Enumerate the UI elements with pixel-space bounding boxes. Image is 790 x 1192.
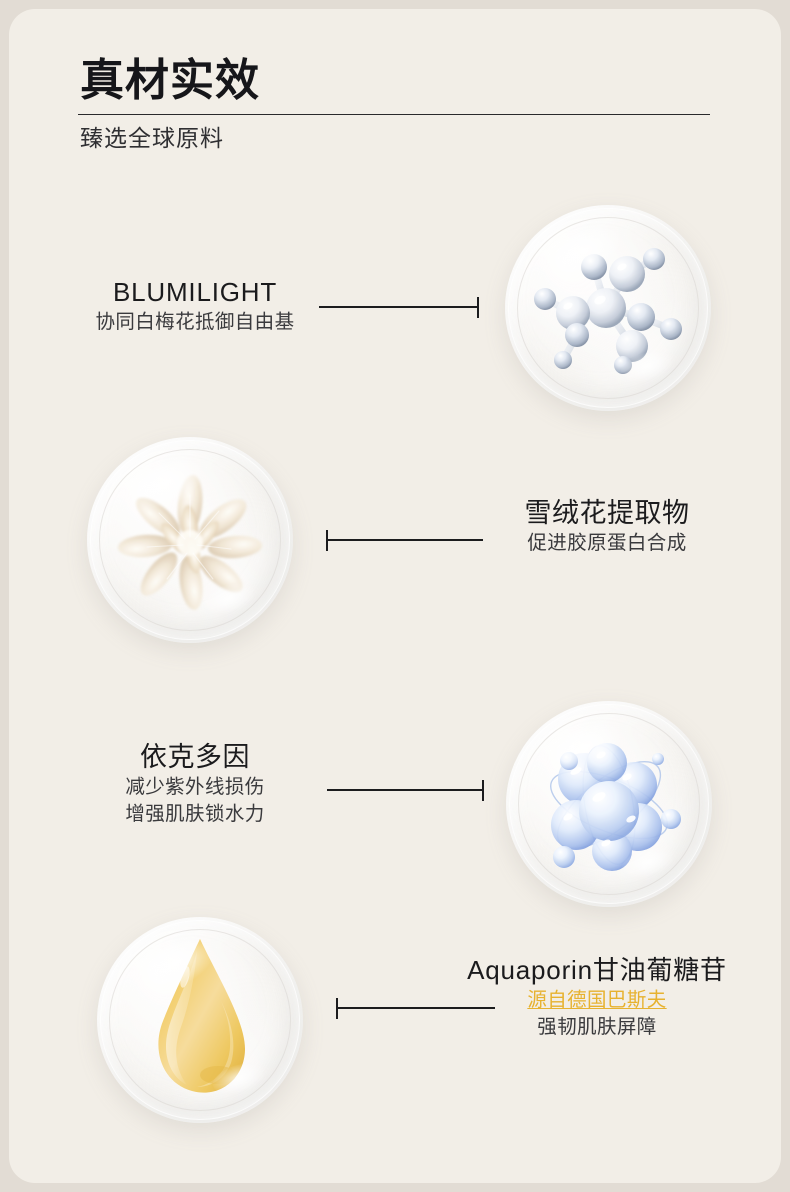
header: 真材实效 臻选全球原料 xyxy=(78,57,718,152)
connector-horizontal xyxy=(319,306,477,308)
ingredient-desc-line: 增强肌肤锁水力 xyxy=(45,801,345,828)
page-subtitle: 臻选全球原料 xyxy=(78,125,718,153)
ingredient-desc-line: 促进胶原蛋白合成 xyxy=(457,530,757,557)
connector-end-cap xyxy=(482,780,484,801)
ingredient-name: 依克多因 xyxy=(45,741,345,774)
ingredient-text-blumilight: BLUMILIGHT 协同白梅花抵御自由基 xyxy=(45,277,345,336)
ingredient-desc-line: 协同白梅花抵御自由基 xyxy=(45,309,345,336)
ingredient-name: Aquaporin甘油葡糖苷 xyxy=(437,955,757,987)
ingredient-name: 雪绒花提取物 xyxy=(457,497,757,530)
connector-end-cap xyxy=(477,297,479,318)
blue-spheres-bubble-icon xyxy=(506,701,712,907)
ingredient-text-aquaporin: Aquaporin甘油葡糖苷 源自德国巴斯夫 强韧肌肤屏障 xyxy=(437,955,757,1041)
molecule-bubble-icon xyxy=(505,205,711,411)
content-panel: 真材实效 臻选全球原料 xyxy=(9,9,781,1183)
edelweiss-flower-bubble-icon xyxy=(87,437,293,643)
title-divider xyxy=(78,114,710,115)
ingredient-origin-label: 源自德国巴斯夫 xyxy=(437,987,757,1014)
connector-line-blumilight xyxy=(319,297,479,318)
ingredient-name: BLUMILIGHT xyxy=(45,277,345,309)
oil-droplet-bubble-icon xyxy=(97,917,303,1123)
ingredient-text-edelweiss: 雪绒花提取物 促进胶原蛋白合成 xyxy=(457,497,757,557)
ingredient-desc-line: 强韧肌肤屏障 xyxy=(437,1014,757,1041)
connector-horizontal xyxy=(327,789,482,791)
connector-line-ectoin xyxy=(327,780,484,801)
page-title: 真材实效 xyxy=(78,57,718,105)
ingredient-desc-line: 减少紫外线损伤 xyxy=(45,774,345,801)
product-ingredient-infographic: 真材实效 臻选全球原料 xyxy=(0,0,790,1192)
ingredient-text-ectoin: 依克多因 减少紫外线损伤 增强肌肤锁水力 xyxy=(45,741,345,828)
